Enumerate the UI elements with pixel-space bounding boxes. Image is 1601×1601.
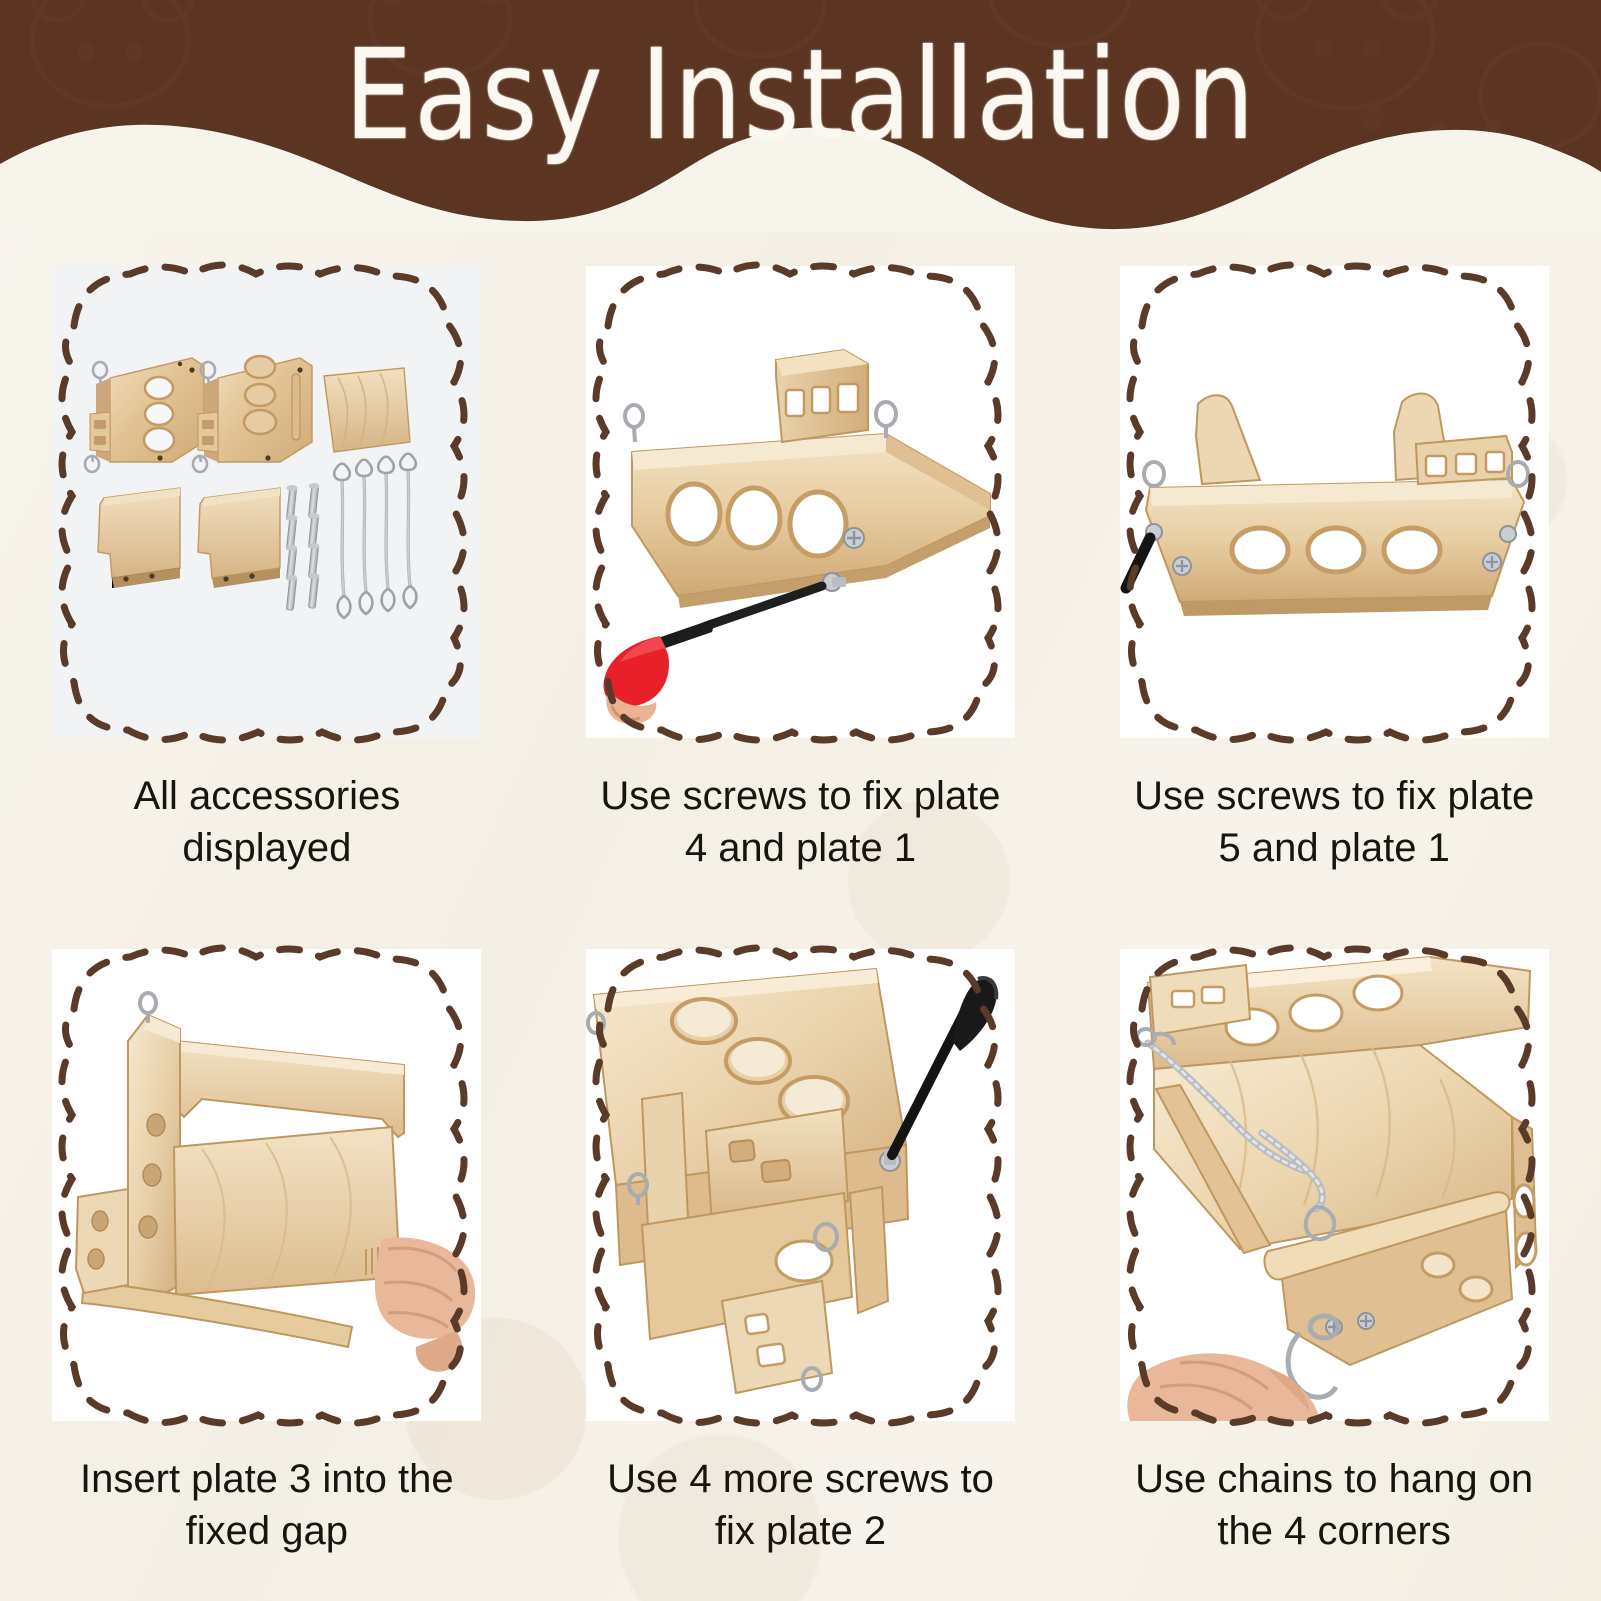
step-2-scallop-border [568, 248, 1033, 756]
step-5-caption: Use 4 more screws to fix plate 2 [585, 1453, 1015, 1557]
installation-steps-grid: All accessories displayed [0, 236, 1601, 1601]
step-1-frame [34, 248, 499, 756]
step-1-caption: All accessories displayed [52, 770, 482, 874]
page-title: Easy Installation [8, 22, 1593, 170]
step-2: Use screws to fix plate 4 and plate 1 [534, 236, 1068, 919]
step-3-frame [1102, 248, 1567, 756]
step-3: Use screws to fix plate 5 and plate 1 [1067, 236, 1601, 919]
step-6-caption: Use chains to hang on the 4 corners [1119, 1453, 1549, 1557]
step-4-caption: Insert plate 3 into the fixed gap [52, 1453, 482, 1557]
step-6-scallop-border [1102, 931, 1567, 1439]
step-3-caption: Use screws to fix plate 5 and plate 1 [1119, 770, 1549, 874]
step-4: Insert plate 3 into the fixed gap [0, 919, 534, 1601]
step-5: Use 4 more screws to fix plate 2 [534, 919, 1068, 1601]
step-6: Use chains to hang on the 4 corners [1067, 919, 1601, 1601]
step-5-scallop-border [568, 931, 1033, 1439]
step-1: All accessories displayed [0, 236, 534, 919]
step-3-scallop-border [1102, 248, 1567, 756]
step-1-scallop-border [34, 248, 499, 756]
step-2-frame [568, 248, 1033, 756]
step-2-caption: Use screws to fix plate 4 and plate 1 [585, 770, 1015, 874]
step-6-frame [1102, 931, 1567, 1439]
step-4-scallop-border [34, 931, 499, 1439]
step-4-frame [34, 931, 499, 1439]
step-5-frame [568, 931, 1033, 1439]
header-banner: Easy Installation [0, 0, 1601, 232]
